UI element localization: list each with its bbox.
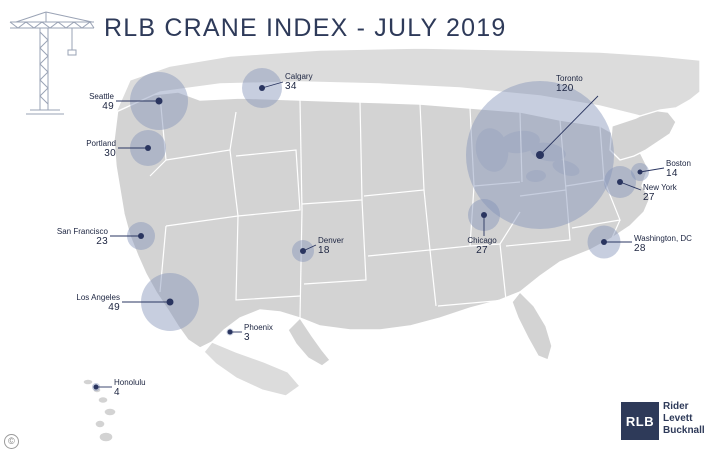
label-los-angeles-city: Los Angeles	[76, 293, 120, 302]
rlb-logo-line1: Rider	[663, 401, 705, 413]
dot-calgary	[259, 85, 265, 91]
label-new-york: New York 27	[643, 183, 703, 203]
label-toronto-value: 120	[556, 84, 616, 94]
label-honolulu: Honolulu 4	[114, 378, 184, 398]
label-san-francisco-city: San Francisco	[57, 227, 108, 236]
label-honolulu-value: 4	[114, 388, 184, 398]
label-phoenix-value: 3	[244, 333, 304, 343]
rlb-logo: RLB Rider Levett Bucknall	[621, 400, 707, 442]
label-portland-value: 30	[46, 149, 116, 159]
rlb-logo-line2: Levett	[663, 413, 705, 425]
label-denver-value: 18	[318, 246, 378, 256]
label-phoenix-city: Phoenix	[244, 323, 273, 332]
label-honolulu-city: Honolulu	[114, 378, 146, 387]
usa-map	[0, 0, 717, 452]
label-seattle-value: 49	[46, 102, 114, 112]
label-chicago-city: Chicago	[467, 236, 496, 245]
dot-denver	[300, 248, 306, 254]
label-los-angeles-value: 49	[28, 303, 120, 313]
label-washington-dc: Washington, DC 28	[634, 234, 717, 254]
dot-honolulu	[94, 385, 99, 390]
label-new-york-city: New York	[643, 183, 677, 192]
label-los-angeles: Los Angeles 49	[28, 293, 120, 313]
label-chicago-value: 27	[452, 246, 512, 256]
dot-phoenix	[228, 330, 233, 335]
label-phoenix: Phoenix 3	[244, 323, 304, 343]
label-toronto: Toronto 120	[556, 74, 616, 94]
label-washington-dc-value: 28	[634, 244, 717, 254]
label-chicago: Chicago 27	[452, 236, 512, 256]
dot-new-york	[617, 179, 623, 185]
label-toronto-city: Toronto	[556, 74, 583, 83]
dot-seattle	[156, 98, 163, 105]
dot-boston	[638, 170, 643, 175]
label-seattle: Seattle 49	[46, 92, 114, 112]
dot-los-angeles	[167, 299, 174, 306]
label-portland-city: Portland	[86, 139, 116, 148]
rlb-logo-line3: Bucknall	[663, 425, 705, 437]
label-washington-dc-city: Washington, DC	[634, 234, 692, 243]
copyright-icon: ©	[4, 434, 19, 449]
label-denver: Denver 18	[318, 236, 378, 256]
label-san-francisco: San Francisco 23	[20, 227, 108, 247]
label-portland: Portland 30	[46, 139, 116, 159]
label-boston-value: 14	[666, 169, 716, 179]
label-san-francisco-value: 23	[20, 237, 108, 247]
dot-portland	[145, 145, 151, 151]
rlb-logo-words: Rider Levett Bucknall	[663, 401, 705, 437]
label-boston: Boston 14	[666, 159, 716, 179]
label-calgary-city: Calgary	[285, 72, 313, 81]
label-boston-city: Boston	[666, 159, 691, 168]
dot-san-francisco	[138, 233, 144, 239]
label-seattle-city: Seattle	[89, 92, 114, 101]
label-denver-city: Denver	[318, 236, 344, 245]
page-title: RLB CRANE INDEX - JULY 2019	[104, 14, 506, 43]
dot-chicago	[481, 212, 487, 218]
label-calgary: Calgary 34	[285, 72, 355, 92]
label-new-york-value: 27	[643, 193, 703, 203]
dot-washington-dc	[601, 239, 607, 245]
label-calgary-value: 34	[285, 82, 355, 92]
rlb-logo-mark: RLB	[621, 402, 659, 440]
crane-index-infographic: RLB CRANE INDEX - JULY 2019	[0, 0, 717, 452]
dot-toronto	[536, 151, 544, 159]
